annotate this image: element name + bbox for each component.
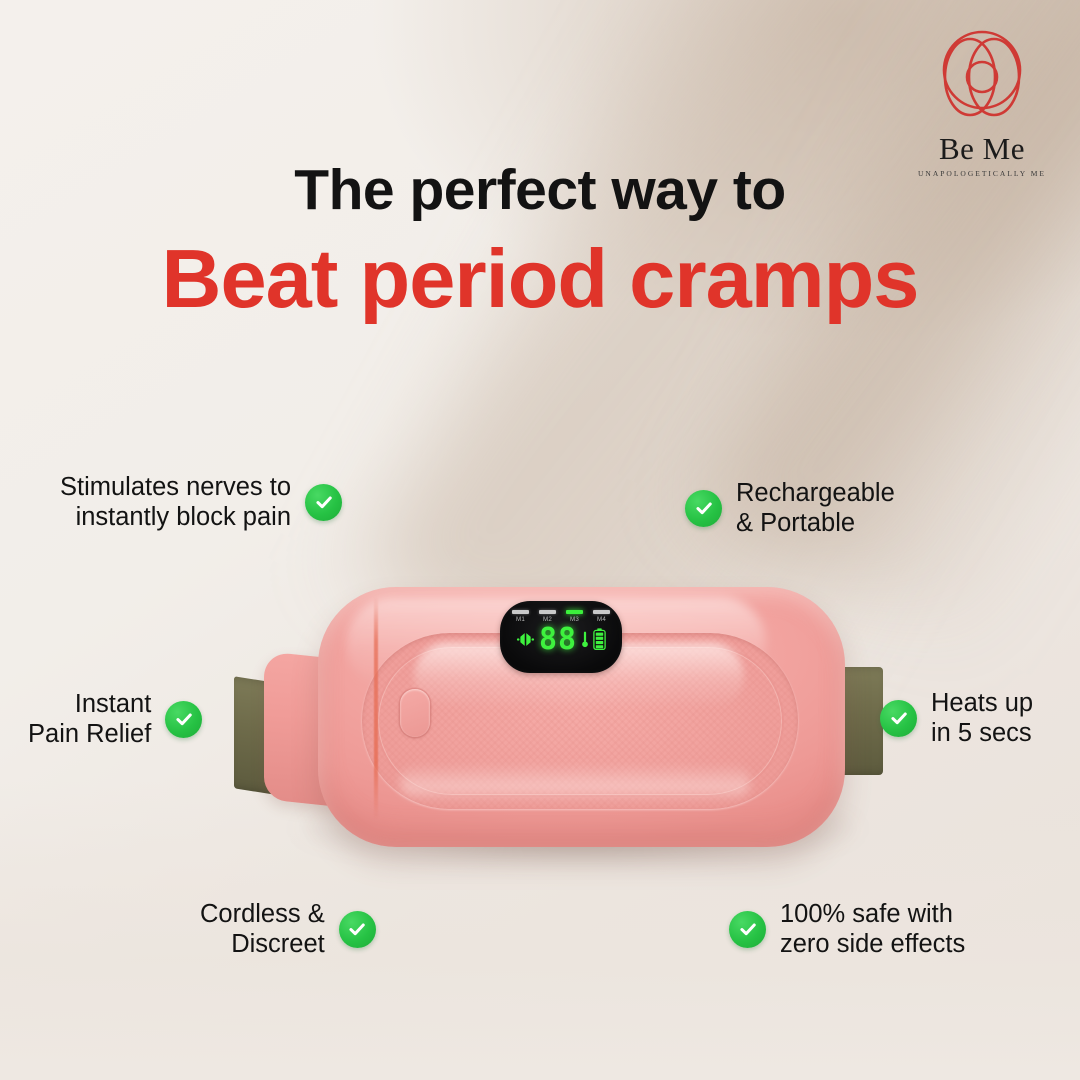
led-mode-label: M4 xyxy=(593,616,610,623)
led-mode-bar-active xyxy=(566,610,583,614)
check-circle-icon xyxy=(339,911,376,948)
check-circle-icon xyxy=(305,484,342,521)
feature-100-percent-safe: 100% safe with zero side effects xyxy=(729,899,965,959)
led-digits: 88 xyxy=(539,627,577,653)
led-mode-bar xyxy=(593,610,610,614)
brand-logo: Be Me UNAPOLOGETICALLY ME xyxy=(912,22,1052,178)
vibration-wave-icon xyxy=(516,630,535,649)
be-me-eye-circles-logo-icon xyxy=(932,22,1032,132)
poster-canvas: Be Me UNAPOLOGETICALLY ME The perfect wa… xyxy=(0,0,1080,1080)
power-button[interactable] xyxy=(400,689,430,737)
headline-line-1: The perfect way to xyxy=(0,162,1080,219)
check-circle-icon xyxy=(685,490,722,527)
feature-label: Heats up in 5 secs xyxy=(931,688,1033,748)
battery-full-icon xyxy=(593,628,606,650)
led-mode-m1[interactable]: M1 xyxy=(512,610,529,623)
checkmark-glyph xyxy=(313,491,335,513)
brand-name: Be Me xyxy=(912,133,1052,164)
thermometer-icon xyxy=(581,630,589,649)
led-display-panel: M1 M2 M3 M4 xyxy=(500,601,622,673)
led-mode-m4[interactable]: M4 xyxy=(593,610,610,623)
inner-gloss-bottom xyxy=(400,763,750,799)
led-mode-indicators: M1 M2 M3 M4 xyxy=(512,610,610,623)
feature-stimulates-nerves: Stimulates nerves to instantly block pai… xyxy=(60,472,342,532)
checkmark-glyph xyxy=(737,918,759,940)
led-mode-bar xyxy=(512,610,529,614)
headline-block: The perfect way to Beat period cramps xyxy=(0,162,1080,322)
feature-label: Stimulates nerves to instantly block pai… xyxy=(60,472,291,532)
checkmark-glyph xyxy=(173,708,195,730)
check-circle-icon xyxy=(729,911,766,948)
feature-label: Instant Pain Relief xyxy=(28,689,151,749)
feature-rechargeable-portable: Rechargeable & Portable xyxy=(685,478,895,538)
led-mode-bar xyxy=(539,610,556,614)
feature-instant-pain-relief: Instant Pain Relief xyxy=(28,689,202,749)
led-mode-m3[interactable]: M3 xyxy=(566,610,583,623)
led-mode-m2[interactable]: M2 xyxy=(539,610,556,623)
headline-line-2: Beat period cramps xyxy=(0,235,1080,322)
check-circle-icon xyxy=(165,701,202,738)
feature-cordless-discreet: Cordless & Discreet xyxy=(200,899,376,959)
belt-edge-highlight xyxy=(374,597,378,819)
feature-heats-up: Heats up in 5 secs xyxy=(880,688,1033,748)
checkmark-glyph xyxy=(693,497,715,519)
feature-label: Rechargeable & Portable xyxy=(736,478,895,538)
checkmark-glyph xyxy=(888,707,910,729)
feature-label: 100% safe with zero side effects xyxy=(780,899,965,959)
led-readout-row: 88 xyxy=(500,627,622,653)
checkmark-glyph xyxy=(346,918,368,940)
check-circle-icon xyxy=(880,700,917,737)
led-mode-label: M1 xyxy=(512,616,529,623)
feature-label: Cordless & Discreet xyxy=(200,899,325,959)
